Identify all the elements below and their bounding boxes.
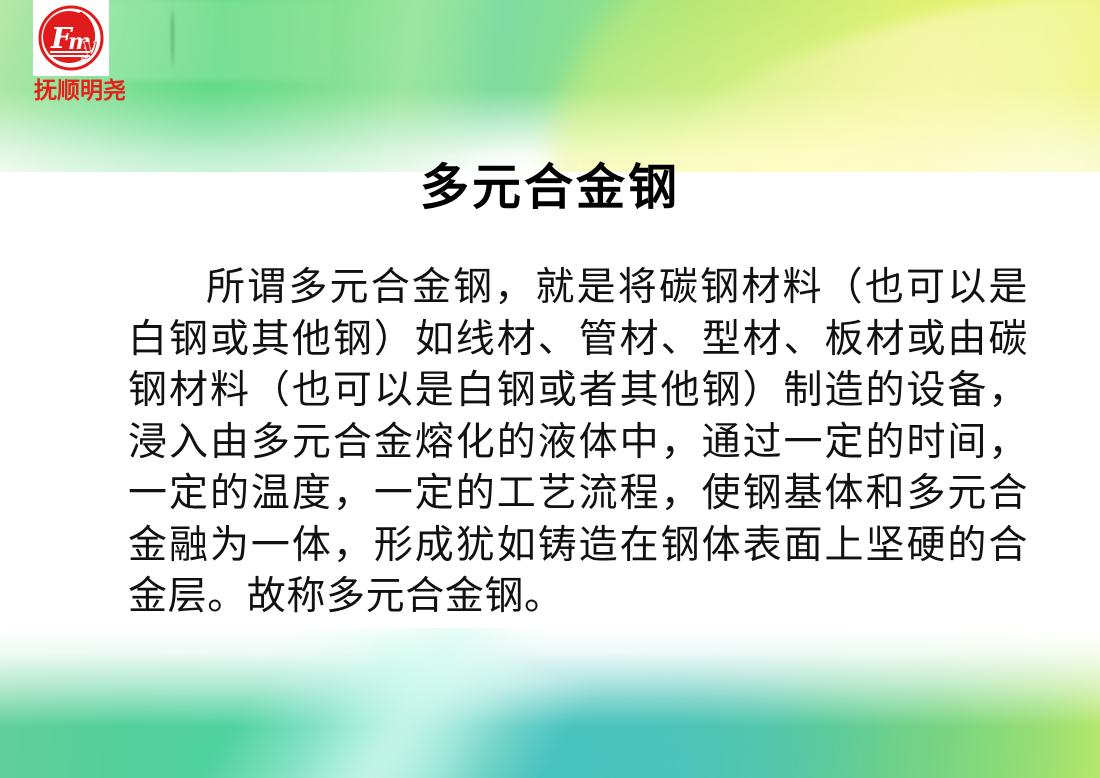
presentation-slide: F m y 抚顺明尧 多元合金钢 所谓多元合金钢，就是将碳钢材料（也可以是白钢或…: [0, 0, 1100, 778]
brand-logo-block: F m y 抚顺明尧: [20, 0, 140, 103]
slide-body-paragraph: 所谓多元合金钢，就是将碳钢材料（也可以是白钢或其他钢）如线材、管材、型材、板材或…: [128, 262, 1028, 623]
slide-content: 多元合金钢 所谓多元合金钢，就是将碳钢材料（也可以是白钢或其他钢）如线材、管材、…: [0, 0, 1100, 778]
slide-title: 多元合金钢: [0, 163, 1100, 212]
logo-icon: F m y: [33, 0, 109, 76]
company-name-label: 抚顺明尧: [20, 79, 140, 103]
